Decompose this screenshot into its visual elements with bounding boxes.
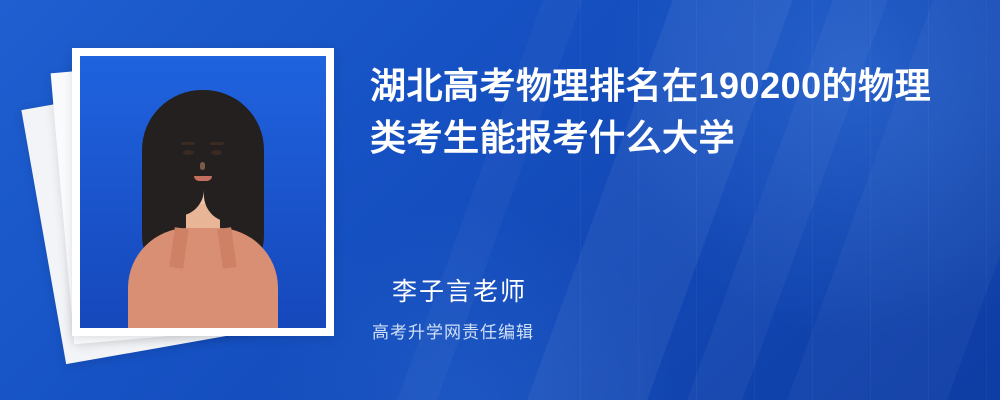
portrait-eye-left bbox=[183, 150, 194, 155]
author-role: 高考升学网责任编辑 bbox=[372, 318, 534, 343]
portrait-eyebrow-left bbox=[181, 142, 195, 145]
portrait-mouth bbox=[194, 176, 212, 181]
page-title: 湖北高考物理排名在190200的物理类考生能报考什么大学 bbox=[370, 60, 960, 164]
portrait-eye-right bbox=[211, 150, 222, 155]
photo-card-front bbox=[72, 48, 334, 336]
portrait-body bbox=[128, 228, 278, 328]
portrait-photo bbox=[80, 56, 326, 328]
portrait-nose bbox=[200, 162, 205, 170]
glow-decoration-top-right bbox=[600, 0, 1000, 340]
portrait-eyebrow-right bbox=[210, 142, 224, 145]
portrait-fringe bbox=[162, 96, 244, 136]
author-name: 李子言老师 bbox=[392, 272, 527, 308]
portrait-illustration bbox=[80, 56, 326, 328]
headline-block: 湖北高考物理排名在190200的物理类考生能报考什么大学 bbox=[370, 60, 960, 164]
photo-stack bbox=[40, 36, 340, 366]
article-banner: 湖北高考物理排名在190200的物理类考生能报考什么大学 李子言老师 高考升学网… bbox=[0, 0, 1000, 400]
